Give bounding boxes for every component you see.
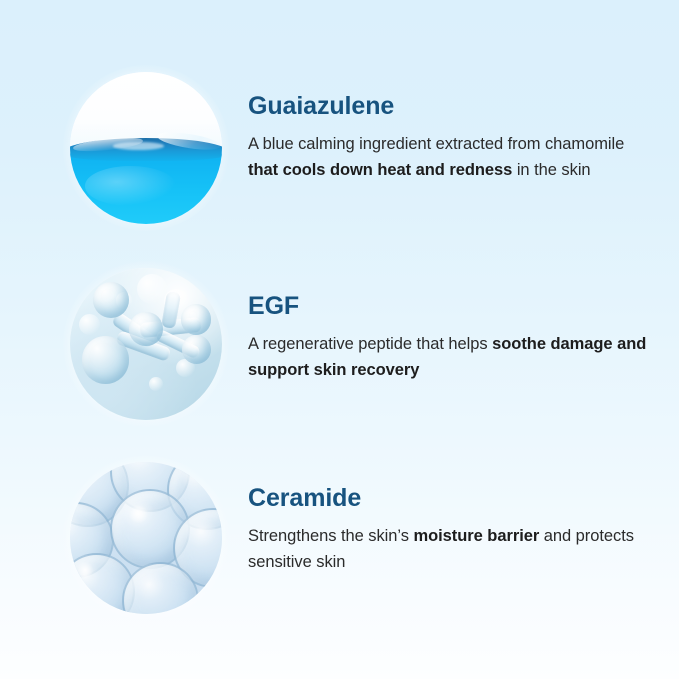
ingredient-title: EGF [248,292,648,320]
molecule-atom [181,304,211,334]
ingredient-text-column: Guaiazulene A blue calming ingredient ex… [248,72,648,183]
wave-foam [113,142,165,150]
ingredient-infographic: Guaiazulene A blue calming ingredient ex… [0,0,679,679]
bubble-highlight [128,505,149,523]
water-wave-circle-image [70,72,222,224]
background-blob [149,377,163,391]
circle-mask [70,268,222,420]
ingredient-description: Strengthens the skin’s moisture barrier … [248,523,648,575]
molecule-atom [182,335,211,364]
circle-mask [70,72,222,224]
ingredient-row: Guaiazulene A blue calming ingredient ex… [0,72,679,224]
ingredient-row: Ceramide Strengthens the skin’s moisture… [0,462,679,614]
bubble-highlight [76,562,94,577]
ingredient-row: EGF A regenerative peptide that helps so… [0,268,679,420]
ingredient-title: Guaiazulene [248,92,648,120]
molecule-circle-image [70,268,222,420]
molecule-atom [93,282,129,318]
ingredient-text-column: Ceramide Strengthens the skin’s moisture… [248,462,648,575]
ingredient-text-column: EGF A regenerative peptide that helps so… [248,268,648,383]
molecule-atom [82,336,129,383]
circle-mask [70,462,222,614]
background-blob [79,314,100,335]
ingredient-description: A blue calming ingredient extracted from… [248,131,648,183]
ingredient-description: A regenerative peptide that helps soothe… [248,331,648,383]
water-sheen [85,166,176,206]
molecule-atom [129,312,162,345]
bubbles-circle-image [70,462,222,614]
ingredient-title: Ceramide [248,484,648,512]
